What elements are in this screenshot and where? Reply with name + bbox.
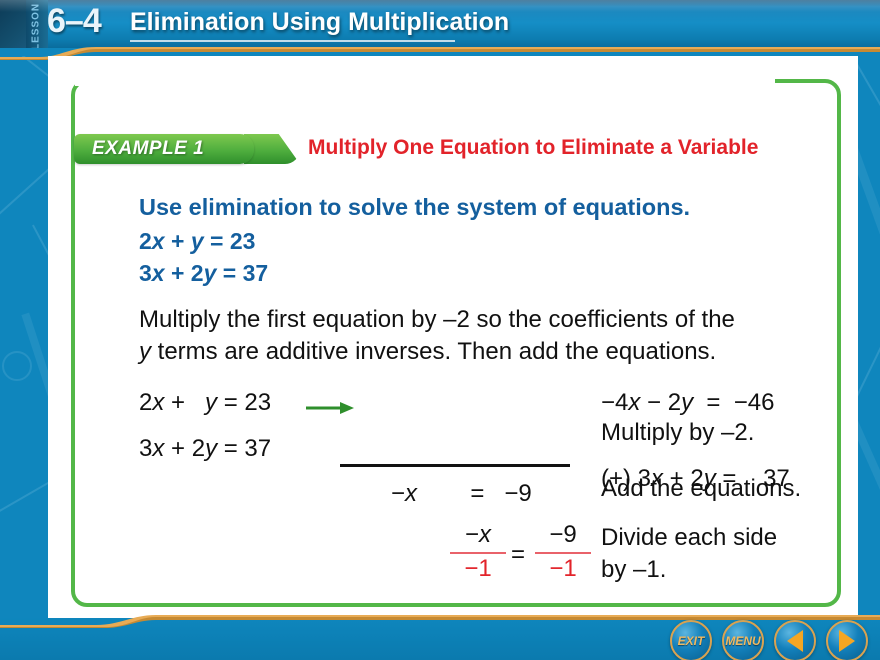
annotation-note-add: Add the equations. bbox=[601, 475, 801, 503]
page-title: Elimination Using Multiplication bbox=[130, 8, 509, 37]
example-frame-notch bbox=[75, 76, 775, 86]
example-badge-label: EXAMPLE 1 bbox=[74, 138, 204, 160]
work-equation-2: 3x + 2y = 37 bbox=[139, 435, 271, 463]
annotation-multiplied-equation: −4x − 2y = −46 bbox=[601, 389, 774, 417]
fraction-right: −9 −1 bbox=[535, 521, 591, 583]
fraction-left: −x −1 bbox=[450, 521, 506, 583]
slide-header: LESSON 6–4 Elimination Using Multiplicat… bbox=[0, 0, 880, 48]
example-badge: EXAMPLE 1 bbox=[74, 134, 254, 164]
annotation-note-multiply: Multiply by –2. bbox=[601, 419, 754, 447]
lesson-label: LESSON bbox=[24, 2, 48, 48]
annotation-note-divide-line-2: by –1. bbox=[601, 556, 666, 584]
fraction-equals-sign: = bbox=[511, 541, 525, 569]
sum-result: −x = −9 bbox=[391, 480, 532, 508]
fraction-left-numerator: −x bbox=[450, 521, 506, 549]
triangle-right-icon bbox=[839, 630, 855, 652]
prompt-equation-1: 2x + y = 23 bbox=[139, 228, 255, 255]
body-text-line-1: Multiply the first equation by –2 so the… bbox=[139, 306, 735, 334]
fraction-left-denominator: −1 bbox=[450, 555, 506, 583]
slide-stage: LESSON 6–4 Elimination Using Multiplicat… bbox=[0, 0, 880, 660]
annotation-note-divide-line-1: Divide each side bbox=[601, 524, 777, 552]
content-card: EXAMPLE 1 Multiply One Equation to Elimi… bbox=[48, 56, 858, 618]
menu-button-label: MENU bbox=[725, 634, 760, 648]
exit-button[interactable]: EXIT bbox=[670, 620, 712, 660]
exit-button-label: EXIT bbox=[678, 634, 705, 648]
background-watermark bbox=[0, 56, 48, 618]
previous-button[interactable] bbox=[774, 620, 816, 660]
title-underline bbox=[130, 40, 455, 42]
fraction-right-numerator: −9 bbox=[535, 521, 591, 549]
prompt-heading: Use elimination to solve the system of e… bbox=[139, 194, 690, 221]
fraction-left-bar bbox=[450, 552, 506, 554]
green-arrow-icon bbox=[306, 401, 354, 413]
sum-horizontal-rule bbox=[340, 464, 570, 467]
prompt-equation-2: 3x + 2y = 37 bbox=[139, 260, 268, 287]
fraction-right-bar bbox=[535, 552, 591, 554]
background-watermark-right bbox=[856, 56, 880, 618]
menu-button[interactable]: MENU bbox=[722, 620, 764, 660]
work-equation-1: 2x + y = 23 bbox=[139, 389, 271, 417]
lesson-number: 6–4 bbox=[47, 2, 101, 41]
next-button[interactable] bbox=[826, 620, 868, 660]
fraction-right-denominator: −1 bbox=[535, 555, 591, 583]
body-text-line-2: y terms are additive inverses. Then add … bbox=[139, 338, 716, 366]
triangle-left-icon bbox=[787, 630, 803, 652]
example-title: Multiply One Equation to Eliminate a Var… bbox=[308, 136, 758, 160]
